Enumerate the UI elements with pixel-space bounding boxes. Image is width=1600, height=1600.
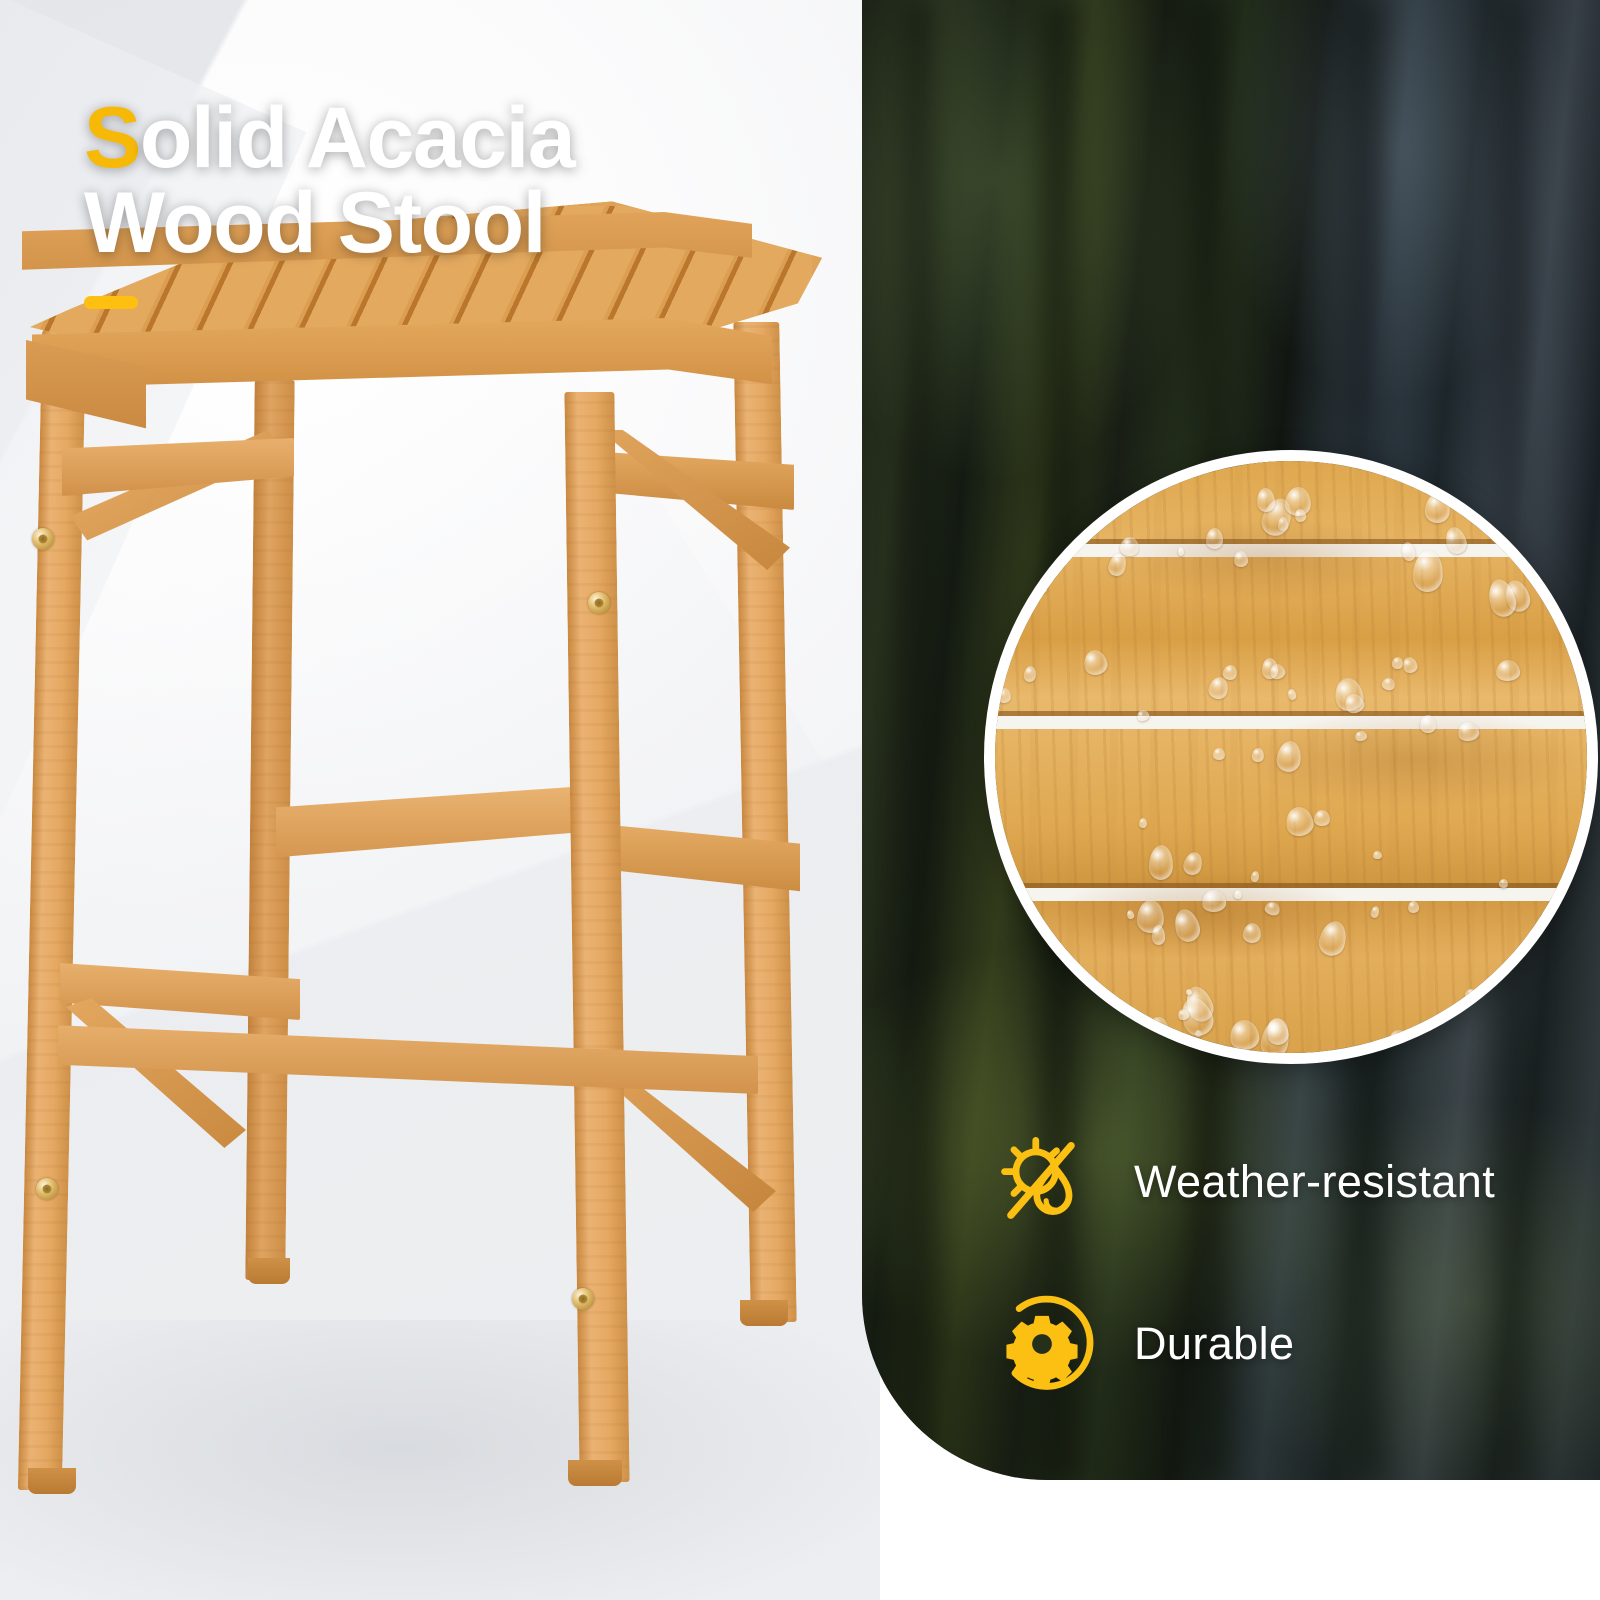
screw-icon xyxy=(572,1288,594,1310)
water-droplet xyxy=(1498,878,1509,888)
water-droplet xyxy=(1006,907,1026,933)
stool-foot-back-left xyxy=(248,1258,290,1284)
water-droplet xyxy=(1313,810,1330,827)
water-droplet xyxy=(1148,1016,1168,1036)
water-droplet xyxy=(1212,748,1225,761)
water-droplet xyxy=(1148,845,1174,881)
water-droplet xyxy=(1023,665,1038,683)
water-droplet xyxy=(1139,817,1147,827)
stool-leg-front-left xyxy=(18,330,86,1490)
feature-label: Durable xyxy=(1134,1318,1294,1370)
headline-line-2: Wood Stool xyxy=(84,181,724,266)
water-droplet xyxy=(1372,851,1381,860)
wood-grain xyxy=(1055,871,1355,959)
water-droplet xyxy=(1420,715,1436,733)
water-droplet xyxy=(1039,584,1048,593)
water-droplet xyxy=(1387,1028,1411,1052)
feature-weather-resistant: Weather-resistant xyxy=(990,1122,1550,1242)
feature-durable: Durable xyxy=(990,1284,1550,1404)
water-droplet xyxy=(1103,474,1124,500)
sun-rain-slash-icon xyxy=(990,1130,1094,1234)
water-droplet xyxy=(1443,525,1470,557)
stool-foot-back-right xyxy=(740,1300,788,1326)
stool-brace-low-left xyxy=(66,998,246,1148)
headline-accent-letter: S xyxy=(84,90,140,186)
water-droplet xyxy=(1136,708,1151,722)
water-droplet xyxy=(1391,656,1404,669)
water-droplet xyxy=(1530,916,1555,947)
water-droplet xyxy=(1286,688,1296,700)
water-droplet xyxy=(1571,855,1587,869)
headline-line-1: olid Acacia xyxy=(140,90,574,186)
water-droplet xyxy=(1408,901,1419,913)
water-droplet xyxy=(1206,528,1223,549)
water-droplet xyxy=(1380,676,1396,691)
water-droplet xyxy=(997,688,1012,704)
water-droplet xyxy=(1178,547,1184,556)
water-droplet xyxy=(1495,659,1520,681)
stool-foot-front-right xyxy=(568,1460,622,1486)
water-droplet xyxy=(1411,549,1444,593)
marketing-banner: Solid Acacia Wood Stool xyxy=(0,0,1600,1600)
title-underline xyxy=(84,296,138,309)
screw-icon xyxy=(588,592,610,614)
water-droplet xyxy=(1082,648,1110,677)
gear-circle-icon xyxy=(990,1292,1094,1396)
screw-icon xyxy=(32,528,54,550)
stool-stretcher-mid xyxy=(276,784,616,862)
water-droplet xyxy=(1464,987,1480,1002)
water-droplet xyxy=(1256,488,1275,513)
water-droplet xyxy=(1037,489,1063,520)
feature-list: Weather-resistant Durable xyxy=(990,1122,1550,1446)
page-title: Solid Acacia Wood Stool xyxy=(84,96,724,266)
water-droplet xyxy=(1284,805,1316,838)
water-droplet xyxy=(1251,747,1264,762)
stool-leg-front-right xyxy=(564,392,629,1482)
water-droplet xyxy=(1008,493,1017,502)
water-droplet xyxy=(1151,925,1165,945)
water-droplet xyxy=(1234,550,1248,566)
water-droplet xyxy=(1401,655,1419,674)
stool-foot-front-left xyxy=(28,1468,76,1494)
water-droplet xyxy=(1117,1017,1148,1056)
headline-block: Solid Acacia Wood Stool xyxy=(84,96,724,309)
wood-closeup-inset xyxy=(984,450,1598,1064)
water-droplet xyxy=(1370,905,1381,918)
wood-inset-wrapper xyxy=(922,412,1558,1048)
screw-icon xyxy=(36,1178,58,1200)
wood-plank-texture xyxy=(995,461,1587,1053)
feature-label: Weather-resistant xyxy=(1134,1156,1495,1208)
water-droplet xyxy=(1229,1019,1261,1052)
